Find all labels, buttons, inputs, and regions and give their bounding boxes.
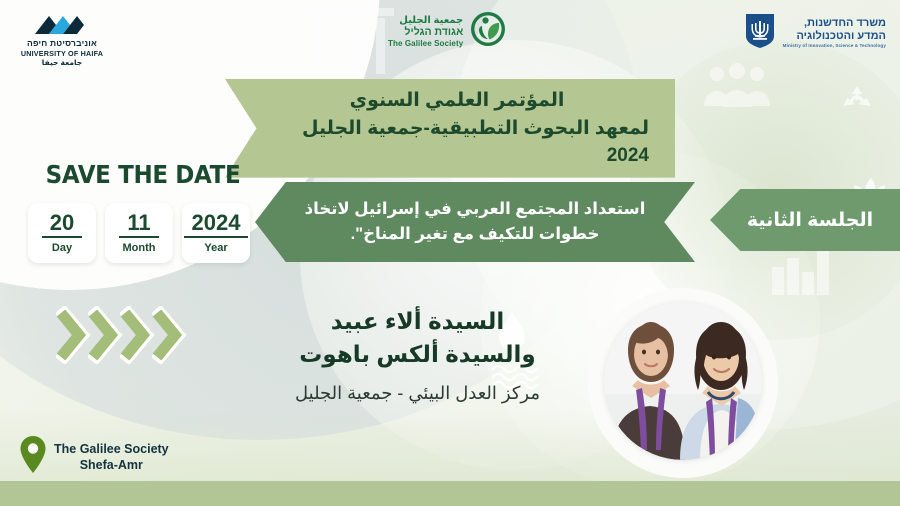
date-day-value: 20 <box>42 212 82 238</box>
speaker-affiliation: مركز العدل البيئي - جمعية الجليل <box>245 381 590 406</box>
session-topic-line2: خطوات للتكيف مع تغير المناخ". <box>351 222 600 247</box>
ministry-hebrew-line2: המדע והטכנולוגיה <box>783 30 886 43</box>
venue-block: The Galilee Society Shefa-Amr <box>18 435 169 480</box>
chevron-right-icon <box>56 306 92 364</box>
date-box-month: 11 Month <box>105 203 173 263</box>
chevron-right-icon <box>152 306 188 364</box>
poster-canvas: אוניברסיטת חיפה UNIVERSITY OF HAIFA جامع… <box>0 0 900 506</box>
speakers-block: السيدة ألاء عبيد والسيدة ألكس باهوت مركز… <box>245 305 590 406</box>
galilee-arabic-label: جمعية الجليل <box>388 15 463 27</box>
people-group-icon <box>700 62 774 112</box>
logo-university-of-haifa: אוניברסיטת חיפה UNIVERSITY OF HAIFA جامع… <box>14 12 110 68</box>
date-month-value: 11 <box>119 212 158 238</box>
ministry-english-label: Ministry of Innovation, Science & Techno… <box>783 43 886 49</box>
date-box-year: 2024 Year <box>182 203 250 263</box>
logo-galilee-society: جمعية الجليل אגודת הגליל The Galilee Soc… <box>388 10 507 53</box>
speaker-name-1: السيدة ألاء عبيد <box>245 305 590 338</box>
israel-emblem-icon <box>744 12 776 53</box>
haifa-english-label: UNIVERSITY OF HAIFA <box>14 49 110 58</box>
chevron-arrows-group <box>56 306 184 364</box>
session-topic-line1: استعداد المجتمع العربي في إسرائيل لاتخاذ <box>305 197 646 222</box>
logo-ministry-science: משרד החדשנות, המדע והטכנולוגיה Ministry … <box>744 12 886 53</box>
venue-city: Shefa-Amr <box>54 458 169 474</box>
conference-title-ribbon: المؤتمر العلمي السنوي لمعهد البحوث التطب… <box>225 79 675 178</box>
date-box-day: 20 Day <box>28 203 96 263</box>
galilee-english-label: The Galilee Society <box>388 39 463 48</box>
date-boxes: 20 Day 11 Month 2024 Year <box>28 203 258 263</box>
conference-title-line1: المؤتمر العلمي السنوي <box>350 87 565 115</box>
galilee-mark-icon <box>469 10 507 53</box>
galilee-hebrew-label: אגודת הגליל <box>388 26 463 38</box>
recycle-icon <box>840 83 874 117</box>
chevron-right-icon <box>120 306 156 364</box>
session-number-badge: الجلسة الثانية <box>710 189 900 251</box>
speakers-photo <box>604 302 762 460</box>
chevron-right-icon <box>88 306 124 364</box>
bottom-band <box>0 481 900 506</box>
conference-title-line2: لمعهد البحوث التطبيقية-جمعية الجليل 2024 <box>265 115 649 170</box>
location-pin-icon <box>18 435 48 480</box>
haifa-mark-icon <box>14 12 110 36</box>
date-year-value: 2024 <box>184 212 249 238</box>
venue-name: The Galilee Society <box>54 442 169 458</box>
date-day-label: Day <box>52 242 72 254</box>
city-buildings-icon <box>770 245 840 297</box>
ministry-hebrew-line1: משרד החדשנות, <box>783 17 886 30</box>
save-the-date-heading: SAVE THE DATE <box>37 160 249 189</box>
date-year-label: Year <box>204 242 227 254</box>
haifa-arabic-label: جامعة حيفا <box>14 58 110 67</box>
haifa-hebrew-label: אוניברסיטת חיפה <box>14 39 110 49</box>
save-the-date-block: SAVE THE DATE 20 Day 11 Month 2024 Year <box>28 160 258 263</box>
date-month-label: Month <box>123 242 156 254</box>
session-topic-ribbon: استعداد المجتمع العربي في إسرائيل لاتخاذ… <box>255 182 695 262</box>
speaker-name-2: والسيدة ألكس باهوت <box>245 338 590 371</box>
